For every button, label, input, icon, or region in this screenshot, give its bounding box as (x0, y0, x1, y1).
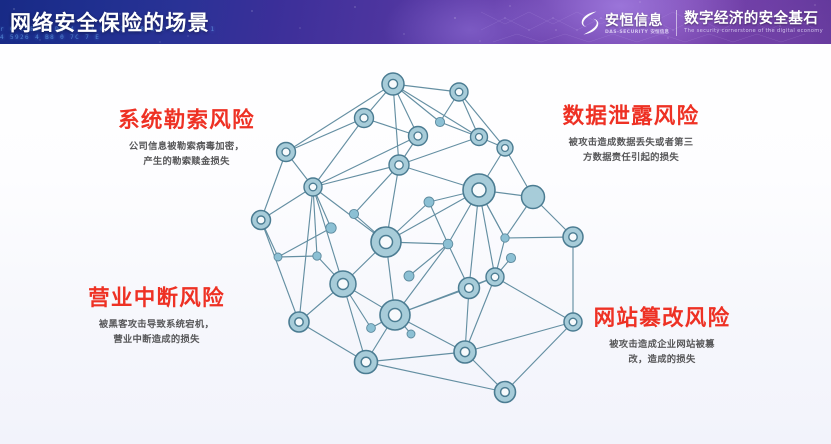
risk-title: 系统勒索风险 (84, 108, 289, 134)
brand-name-en-text: DAS-SECURITY (605, 30, 648, 35)
das-security-swirl-logo-icon (579, 10, 601, 36)
risk-description: 公司信息被勒索病毒加密， 产生的勒索赎金损失 (84, 139, 289, 169)
risk-callout-ransomware: 系统勒索风险 公司信息被勒索病毒加密， 产生的勒索赎金损失 (84, 108, 289, 169)
brand-lockup: 安恒信息 DAS-SECURITY 安恒信息 (579, 10, 669, 36)
brand-tagline: 数字经济的安全基石 The security cornerstone of th… (684, 11, 823, 35)
brand-words: 安恒信息 DAS-SECURITY 安恒信息 (605, 14, 669, 36)
slide-header-band: r 0 .5E2 F D0 4 . 1 0 1 1 0 8 a c 3 2 . … (0, 0, 831, 44)
risk-description: 被攻击造成企业网站被篡 改，造成的损失 (575, 337, 750, 367)
brand-name-en: DAS-SECURITY 安恒信息 (605, 30, 669, 36)
risk-title: 数据泄露风险 (527, 104, 735, 130)
slide-canvas: r 0 .5E2 F D0 4 . 1 0 1 1 0 8 a c 3 2 . … (0, 0, 831, 444)
risk-title: 网站篡改风险 (558, 306, 766, 332)
brand-name-cn: 安恒信息 (605, 14, 669, 29)
tagline-en: The security cornerstone of the digital … (684, 28, 823, 35)
brand-logo-block: 安恒信息 DAS-SECURITY 安恒信息 数字经济的安全基石 The sec… (579, 8, 823, 38)
risk-callout-website-tampering: 网站篡改风险 被攻击造成企业网站被篡 改，造成的损失 (558, 306, 766, 367)
risk-callout-business-interruption: 营业中断风险 被黑客攻击导致系统宕机， 营业中断造成的损失 (54, 286, 259, 347)
risk-description: 被攻击造成数据丢失或者第三 方数据责任引起的损失 (538, 135, 724, 165)
risk-callout-data-leak: 数据泄露风险 被攻击造成数据丢失或者第三 方数据责任引起的损失 (527, 104, 735, 165)
page-title: 网络安全保险的场景 (10, 7, 210, 37)
risk-title: 营业中断风险 (54, 286, 259, 312)
tagline-cn: 数字经济的安全基石 (684, 11, 823, 27)
logo-divider (676, 10, 677, 36)
brand-name-en-cn: 安恒信息 (650, 30, 669, 35)
risk-description: 被黑客攻击导致系统宕机， 营业中断造成的损失 (54, 317, 259, 347)
